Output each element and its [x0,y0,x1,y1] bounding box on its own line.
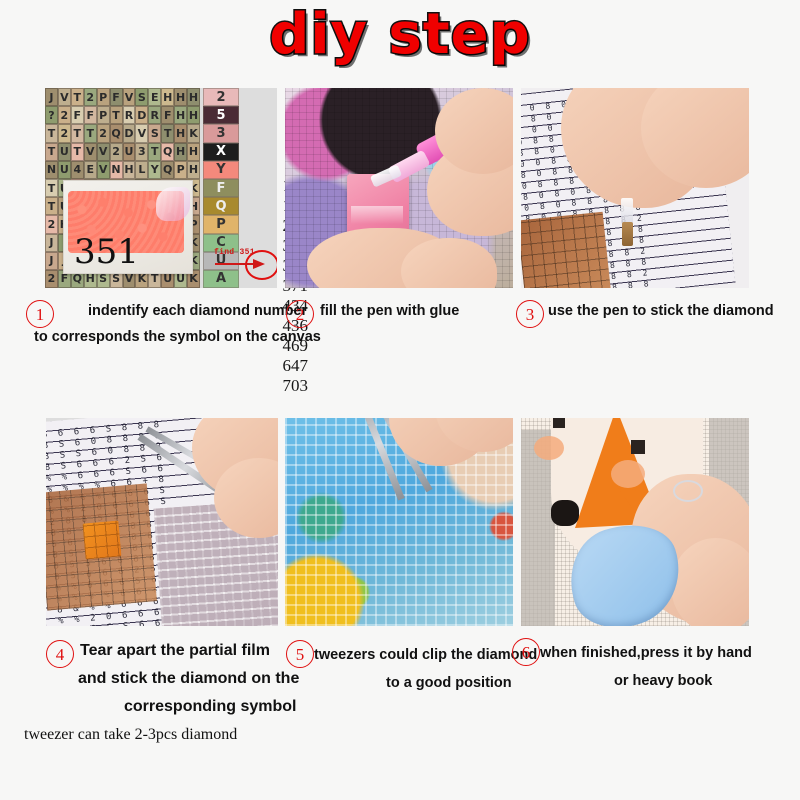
step-2-line-1: fill the pen with glue [320,298,459,324]
symbol-cell: V [58,88,71,106]
symbol-cell: V [135,124,148,142]
legend-symbol: P [203,215,239,233]
step-2-number: 2 [286,300,314,328]
brown-diamond-patch [521,212,611,288]
symbol-cell: E [148,88,161,106]
stick-diamond-photo: 8 0 8 0 8 8 8 2 0 8 0 8 8 8 8 8 8 0 0 8 … [521,88,749,288]
step-5-line-2: to a good position [386,670,512,696]
symbol-cell: 2 [58,106,71,124]
step-1-line-1: indentify each diamond number [88,298,307,324]
symbol-cell: 3 [135,143,148,161]
legend-symbol: A [203,270,239,288]
step-6-image [521,418,749,626]
symbol-cell: T [71,143,84,161]
symbol-cell: H [187,106,200,124]
symbol-cell: R [148,106,161,124]
symbol-cell: T [71,124,84,142]
symbol-cell: T [45,197,58,215]
legend-symbol: Q [203,197,239,215]
symbol-cell: H [123,161,136,179]
symbol-cell: Y [148,161,161,179]
symbol-cell: F [110,88,123,106]
ring-icon [673,480,703,502]
symbol-cell: V [97,161,110,179]
pen-nib [621,198,633,224]
step-4-image: S 6 6 6 S 8 8 8 8 S 6 0 8 8 8 8 8 S S 6 … [46,418,278,626]
symbol-cell: 2 [45,270,58,288]
symbol-cell: H [174,143,187,161]
symbol-cell: U [58,161,71,179]
symbol-cell: V [123,88,136,106]
canvas-symbol-chart: JVT2PFVSEHHH?2FFPTRDRFHHT2TT2QDVSTHKTUTV… [45,88,200,288]
symbol-cell: T [148,143,161,161]
legend-number: 703 [248,376,308,396]
symbol-cell: U [123,143,136,161]
symbol-cell: D [123,124,136,142]
legend-number: 647 [248,356,308,376]
tear-film-photo: S 6 6 6 S 8 8 8 8 S 6 0 8 8 8 8 8 S S 6 … [46,418,278,626]
symbol-cell: 2 [84,88,97,106]
symbol-cell: F [71,106,84,124]
symbol-cell: J [45,234,58,252]
symbol-cell: D [135,106,148,124]
step-3-number: 3 [516,300,544,328]
fox-left-blush [534,436,564,460]
symbol-cell: F [84,106,97,124]
legend-symbol: Y [203,161,239,179]
tweezer-place-photo [285,418,513,626]
symbol-cell: N [45,161,58,179]
legend-symbol: 3 [203,124,239,142]
press-artwork-photo [521,418,749,626]
symbol-cell: 2 [97,124,110,142]
symbol-cell: F [161,106,174,124]
step-3-line-1: use the pen to stick the diamond [548,298,774,324]
page-header: diy step [0,4,800,66]
symbol-cell: T [45,143,58,161]
find-arrow-icon [213,258,265,270]
symbol-cell: V [84,143,97,161]
legend-symbol: 5 [203,106,239,124]
symbol-cell: R [123,106,136,124]
symbol-cell: Q [110,124,123,142]
steps-row-top: JVT2PFVSEHHH?2FFPTRDRFHHT2TT2QDVSTHKTUTV… [0,88,800,288]
steps-row-bottom: S 6 6 6 S 8 8 8 8 S 6 0 8 8 8 8 8 S S 6 … [0,418,800,626]
symbol-cell: U [58,143,71,161]
fox-left-eye [553,418,565,428]
step-2-image [285,88,513,288]
symbol-cell: H [174,124,187,142]
symbol-cell: H [174,88,187,106]
bag-number-label: 351 [74,235,139,269]
bag-sheen [156,187,190,221]
symbol-cell: P [174,161,187,179]
fox-nose [551,500,579,526]
symbol-cell: 2 [45,215,58,233]
symbol-cell: P [97,106,110,124]
step-4-line-1: Tear apart the partial film [80,638,270,664]
symbol-cell: T [110,106,123,124]
step-4-line-4: tweezer can take 2-3pcs diamond [24,722,237,748]
symbol-cell: 2 [58,124,71,142]
legend-symbol: 2 [203,88,239,106]
symbol-cell: T [84,124,97,142]
symbol-cell: S [148,124,161,142]
step-5-line-1: tweezers could clip the diamond [314,642,537,668]
step-4-number: 4 [46,640,74,668]
legend-symbol: F [203,179,239,197]
step-6-line-2: or heavy book [614,668,712,694]
symbol-cell: Q [161,161,174,179]
symbol-cell: K [187,124,200,142]
symbol-cell: ? [45,106,58,124]
step-1-line-2: to corresponds the symbol on the canvas [34,324,321,350]
step-4-line-2: and stick the diamond on the [78,666,299,692]
symbol-cell: H [174,106,187,124]
orange-diamonds [82,520,121,559]
symbol-cell: S [135,88,148,106]
picked-diamond [622,222,633,246]
step-3-image: 8 0 8 0 8 8 8 2 0 8 0 8 8 8 8 8 8 0 0 8 … [521,88,749,288]
symbol-cell: Q [161,143,174,161]
symbol-cell: T [161,124,174,142]
step-5-image [285,418,513,626]
symbol-cell: H [187,161,200,179]
glue-fill-photo [285,88,513,288]
fox-right-eye [631,440,645,454]
symbol-cell: 4 [71,161,84,179]
symbol-cell: V [97,143,110,161]
symbol-cell: N [110,161,123,179]
fox-right-blush [611,460,645,488]
symbol-cell: T [45,179,58,197]
step-6-line-1: when finished,press it by hand [540,640,752,666]
diamond-bag: 351 [63,180,193,274]
step-5-number: 5 [286,640,314,668]
symbol-cell: P [97,88,110,106]
symbol-cell: T [45,124,58,142]
page-title: diy step [269,7,530,63]
glue-block-highlight [351,206,403,224]
symbol-cell: J [45,88,58,106]
legend-symbol: X [203,143,239,161]
symbol-cell: E [84,161,97,179]
find-annotation-label: find 351 [214,248,255,257]
symbol-cell: T [71,88,84,106]
symbol-cell: J [45,252,58,270]
step-6-number: 6 [512,638,540,666]
symbol-cell: L [135,161,148,179]
symbol-cell: H [187,143,200,161]
symbol-cell: 2 [110,143,123,161]
step-4-line-3: corresponding symbol [124,694,296,720]
symbol-cell: H [187,88,200,106]
symbol-cell: H [161,88,174,106]
